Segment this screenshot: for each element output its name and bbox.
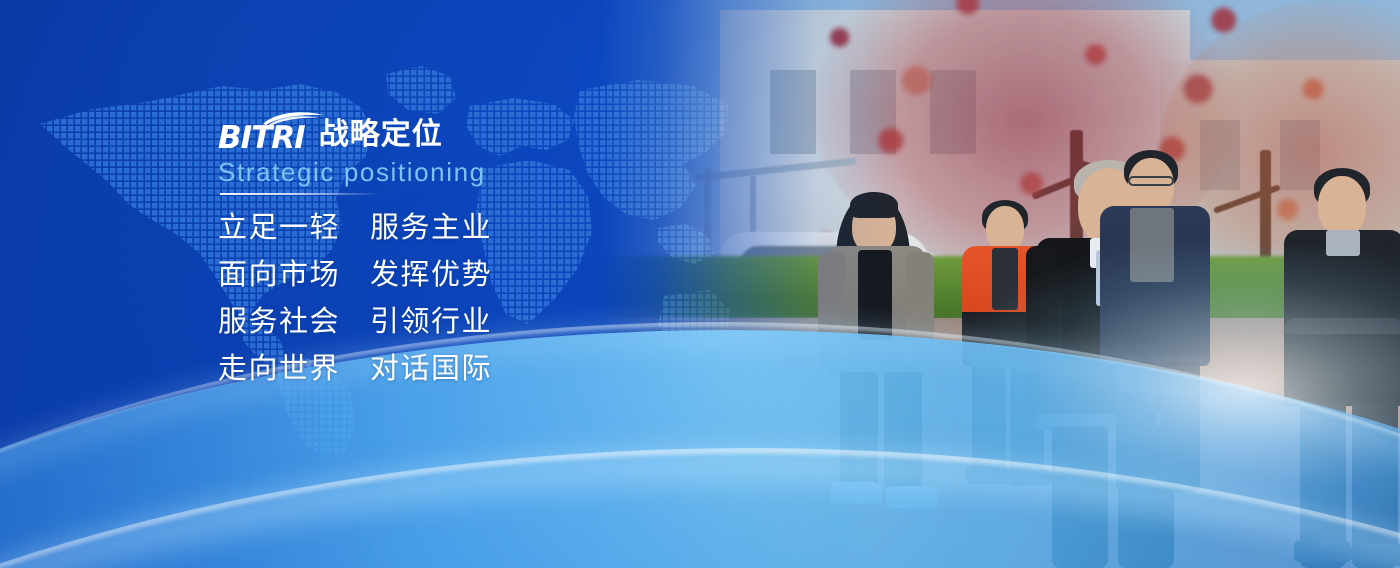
brand-banner: BITRI 战略定位 Strategic positioning 立足一轻 服务… <box>0 0 1400 568</box>
slogan-left: 立足一轻 <box>218 210 370 244</box>
slogan-right: 发挥优势 <box>370 257 492 291</box>
slogan-row: 立足一轻 服务主业 <box>218 210 492 244</box>
bitri-logo-text: BITRI <box>218 121 305 155</box>
bitri-logo: BITRI <box>218 113 305 153</box>
brand-subtitle-en: Strategic positioning <box>218 157 486 187</box>
slogan-left: 服务社会 <box>218 304 370 338</box>
swoosh-arc-icon <box>262 110 324 126</box>
slogan-list: 立足一轻 服务主业 面向市场 发挥优势 服务社会 引领行业 走向世界 对话国际 <box>218 210 492 385</box>
slogan-left: 走向世界 <box>218 351 370 385</box>
slogan-row: 服务社会 引领行业 <box>218 304 492 338</box>
campus-photo <box>600 0 1400 568</box>
slogan-right: 引领行业 <box>370 304 492 338</box>
photo-pavement <box>600 318 850 568</box>
slogan-right: 服务主业 <box>370 210 492 244</box>
slogan-right: 对话国际 <box>370 351 492 385</box>
slogan-row: 走向世界 对话国际 <box>218 351 492 385</box>
banner-content: BITRI 战略定位 Strategic positioning 立足一轻 服务… <box>0 0 620 568</box>
brand-title-cn: 战略定位 <box>319 118 443 153</box>
brand-lockup: BITRI 战略定位 <box>218 113 443 153</box>
title-divider <box>220 193 380 195</box>
slogan-row: 面向市场 发挥优势 <box>218 257 492 291</box>
slogan-left: 面向市场 <box>218 257 370 291</box>
